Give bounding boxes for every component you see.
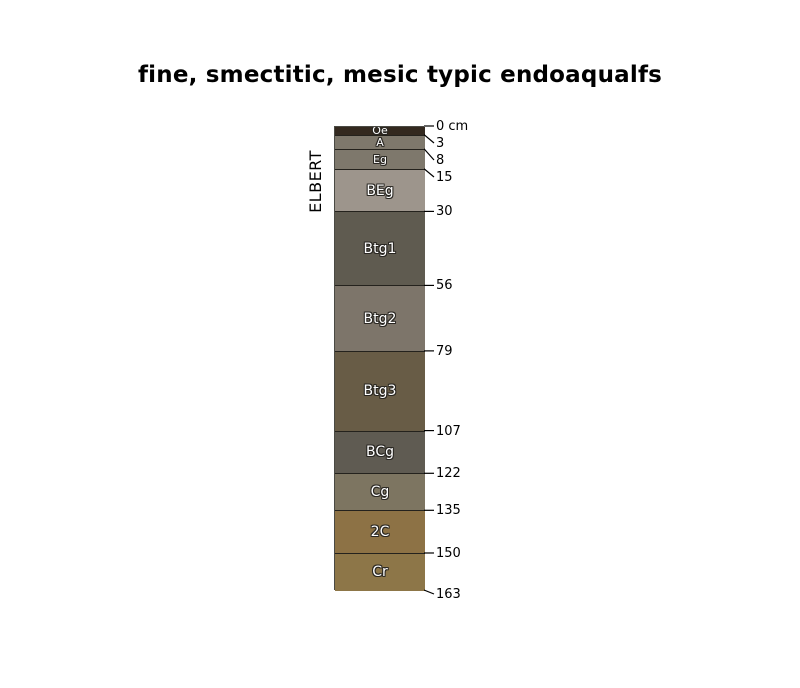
horizon-band: 2C xyxy=(335,511,425,554)
horizon-label: Btg2 xyxy=(364,312,397,326)
horizon-band: BCg xyxy=(335,432,425,475)
horizon-label: A xyxy=(376,137,384,148)
depth-tick-line xyxy=(424,590,434,594)
profile-name-label: ELBERT xyxy=(300,126,330,236)
depth-tick-label: 79 xyxy=(436,345,453,358)
page-title: fine, smectitic, mesic typic endoaqualfs xyxy=(0,62,800,88)
depth-tick-label: 150 xyxy=(436,547,461,560)
depth-tick-label: 163 xyxy=(436,588,461,601)
profile-name-text: ELBERT xyxy=(306,150,325,213)
horizon-band: Btg2 xyxy=(335,286,425,351)
horizon-label: Cg xyxy=(371,485,390,499)
horizon-band: BEg xyxy=(335,170,425,213)
horizon-label: Cr xyxy=(372,565,388,579)
horizon-band: Btg3 xyxy=(335,352,425,432)
depth-tick-line xyxy=(424,135,434,143)
horizon-label: Eg xyxy=(373,154,387,165)
horizon-label: Btg3 xyxy=(364,384,397,398)
depth-tick-line xyxy=(424,149,434,160)
horizon-band: Cg xyxy=(335,474,425,511)
depth-tick-label: 30 xyxy=(436,205,453,218)
horizon-label: BEg xyxy=(366,184,393,198)
depth-tick-label: 107 xyxy=(436,425,461,438)
depth-tick-line xyxy=(424,169,434,177)
horizon-band: A xyxy=(335,136,425,150)
depth-axis-ticks xyxy=(424,110,544,610)
depth-tick-label: 122 xyxy=(436,467,461,480)
horizon-band: Eg xyxy=(335,150,425,170)
horizon-band: Cr xyxy=(335,554,425,591)
horizon-label: Oe xyxy=(372,127,387,136)
depth-tick-label: 8 xyxy=(436,154,444,167)
horizon-label: Btg1 xyxy=(364,242,397,256)
horizon-label: 2C xyxy=(371,525,390,539)
soil-profile-column: OeAEgBEgBtg1Btg2Btg3BCgCg2CCr xyxy=(334,126,424,590)
depth-tick-label: 3 xyxy=(436,137,444,150)
depth-axis: 0 cm3815305679107122135150163 xyxy=(424,110,544,610)
horizon-label: BCg xyxy=(366,445,394,459)
depth-tick-label: 0 cm xyxy=(436,120,468,133)
depth-tick-label: 15 xyxy=(436,171,453,184)
soil-profile-chart: OeAEgBEgBtg1Btg2Btg3BCgCg2CCr xyxy=(334,126,424,590)
depth-tick-label: 56 xyxy=(436,279,453,292)
horizon-band: Btg1 xyxy=(335,212,425,286)
horizon-band: Oe xyxy=(335,127,425,136)
depth-tick-label: 135 xyxy=(436,504,461,517)
